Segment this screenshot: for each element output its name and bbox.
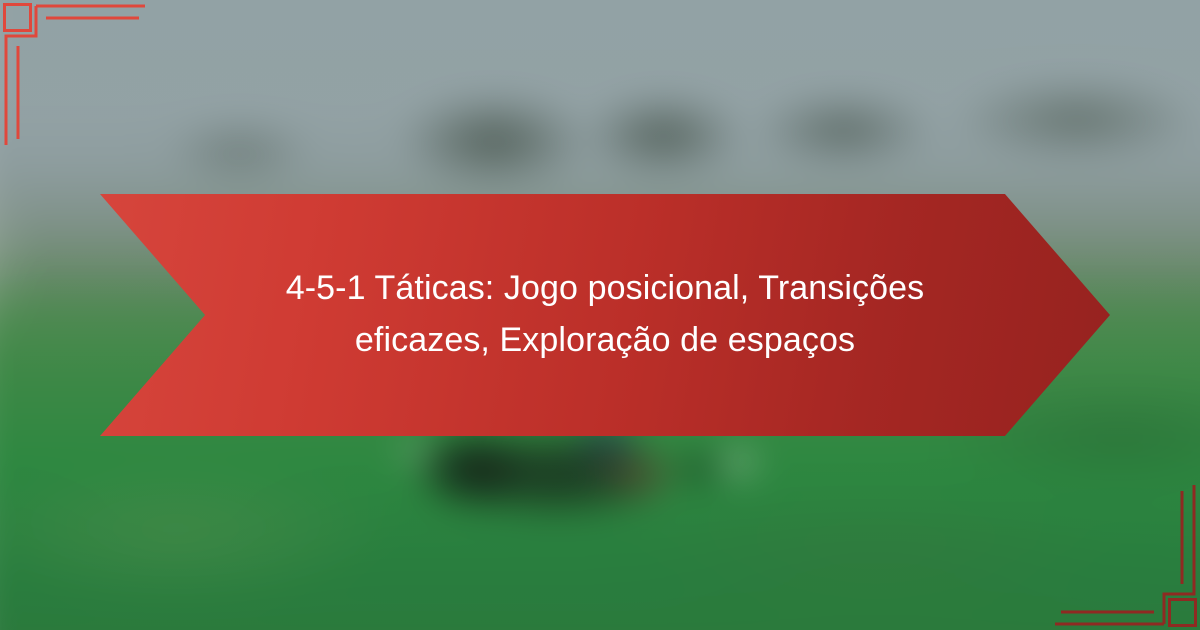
banner-canvas: 4-5-1 Táticas: Jogo posicional, Transiçõ…	[0, 0, 1200, 630]
page-title: 4-5-1 Táticas: Jogo posicional, Transiçõ…	[100, 194, 1110, 436]
page-title-line-2: eficazes, Exploração de espaços	[355, 315, 855, 367]
page-title-line-1: 4-5-1 Táticas: Jogo posicional, Transiçõ…	[286, 263, 925, 315]
title-ribbon: 4-5-1 Táticas: Jogo posicional, Transiçõ…	[100, 194, 1110, 436]
